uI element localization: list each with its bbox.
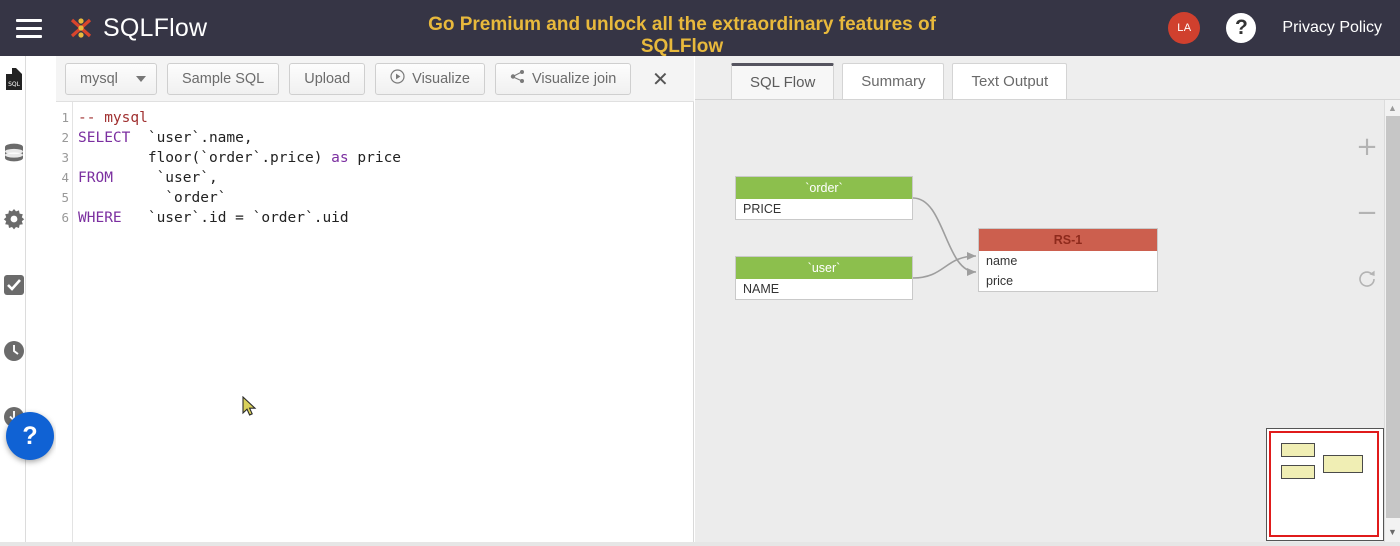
tab-sql-flow[interactable]: SQL Flow	[731, 63, 834, 99]
upload-button[interactable]: Upload	[289, 63, 365, 95]
editor-toolbar: mysql Sample SQL Upload Visualize	[56, 56, 694, 102]
scroll-down-icon[interactable]: ▼	[1385, 524, 1400, 540]
upload-label: Upload	[304, 71, 350, 87]
node-order-title: `order`	[736, 177, 912, 199]
zoom-out-icon[interactable]: −	[1352, 198, 1382, 228]
node-order[interactable]: `order` PRICE	[735, 176, 913, 220]
help-icon[interactable]: ?	[1226, 13, 1256, 43]
scrollbar-thumb[interactable]	[1386, 116, 1400, 518]
sqlflow-logo-icon	[68, 15, 94, 41]
sql-code-line: -- mysql	[78, 108, 688, 128]
line-number: 3	[56, 148, 72, 168]
vertical-scrollbar[interactable]: ▲ ▼	[1384, 100, 1400, 546]
sqlflow-app: SQLFlow Go Premium and unlock all the ex…	[0, 0, 1400, 546]
tab-text-output-label: Text Output	[971, 73, 1048, 90]
dialect-value: mysql	[80, 71, 118, 87]
left-rail: SQL	[0, 56, 26, 546]
node-rs1-column[interactable]: name	[979, 251, 1157, 271]
sql-code-line: `order`	[78, 188, 688, 208]
result-tabs: SQL Flow Summary Text Output	[695, 56, 1400, 100]
avatar[interactable]: LA	[1168, 12, 1200, 44]
visualize-join-button[interactable]: Visualize join	[495, 63, 631, 95]
scroll-up-icon[interactable]: ▲	[1385, 100, 1400, 116]
sql-code-line: FROM `user`,	[78, 168, 688, 188]
visualize-button[interactable]: Visualize	[375, 63, 485, 95]
minimap-node	[1281, 465, 1315, 479]
line-number: 4	[56, 168, 72, 188]
share-nodes-icon	[510, 69, 525, 88]
tab-sql-flow-label: SQL Flow	[750, 74, 815, 91]
node-user[interactable]: `user` NAME	[735, 256, 913, 300]
node-user-column[interactable]: NAME	[736, 279, 912, 299]
svg-text:SQL: SQL	[8, 81, 21, 88]
line-number: 5	[56, 188, 72, 208]
privacy-policy-link[interactable]: Privacy Policy	[1282, 19, 1382, 37]
line-number-gutter: 1 2 3 4 5 6	[56, 102, 73, 546]
node-user-title: `user`	[736, 257, 912, 279]
chevron-down-icon	[136, 76, 146, 82]
tab-text-output[interactable]: Text Output	[952, 63, 1067, 99]
gear-icon[interactable]	[1, 206, 26, 232]
sql-file-icon[interactable]: SQL	[1, 66, 26, 92]
reset-view-icon[interactable]	[1352, 264, 1382, 294]
tab-summary-label: Summary	[861, 73, 925, 90]
line-number: 2	[56, 128, 72, 148]
brand: SQLFlow	[68, 14, 207, 43]
sample-sql-label: Sample SQL	[182, 71, 264, 87]
minimap-node	[1323, 455, 1363, 473]
sql-editor[interactable]: 1 2 3 4 5 6 -- mysqlSELECT `user`.name, …	[56, 102, 694, 546]
node-rs1-column[interactable]: price	[979, 271, 1157, 291]
zoom-in-icon[interactable]: +	[1352, 132, 1382, 162]
sql-code-line: WHERE `user`.id = `order`.uid	[78, 208, 688, 228]
minimap[interactable]	[1266, 428, 1384, 541]
line-number: 6	[56, 208, 72, 228]
visualize-join-label: Visualize join	[532, 71, 616, 87]
minimap-node	[1281, 443, 1315, 457]
checkbox-check-icon[interactable]	[1, 272, 26, 298]
node-order-column[interactable]: PRICE	[736, 199, 912, 219]
dialect-select[interactable]: mysql	[65, 63, 157, 95]
sql-code-text[interactable]: -- mysqlSELECT `user`.name, floor(`order…	[78, 108, 688, 228]
visualize-label: Visualize	[412, 71, 470, 87]
sql-code-line: floor(`order`.price) as price	[78, 148, 688, 168]
promo-banner-text[interactable]: Go Premium and unlock all the extraordin…	[402, 14, 962, 58]
database-icon[interactable]	[1, 140, 26, 166]
help-fab-icon[interactable]: ?	[6, 412, 54, 460]
sql-code-line: SELECT `user`.name,	[78, 128, 688, 148]
sample-sql-button[interactable]: Sample SQL	[167, 63, 279, 95]
mouse-cursor-icon	[242, 396, 258, 418]
node-rs1-title: RS-1	[979, 229, 1157, 251]
tab-summary[interactable]: Summary	[842, 63, 944, 99]
bottom-bar	[0, 542, 1400, 546]
line-number: 1	[56, 108, 72, 128]
header-actions: LA ? Privacy Policy	[1168, 0, 1400, 56]
hamburger-menu-icon[interactable]	[6, 19, 52, 38]
app-header: SQLFlow Go Premium and unlock all the ex…	[0, 0, 1400, 56]
close-icon[interactable]: ✕	[649, 68, 671, 90]
brand-name: SQLFlow	[103, 14, 207, 43]
node-rs1[interactable]: RS-1 name price	[978, 228, 1158, 292]
play-circle-icon	[390, 69, 405, 88]
zoom-controls: + −	[1352, 132, 1382, 294]
clock-icon[interactable]	[1, 338, 26, 364]
